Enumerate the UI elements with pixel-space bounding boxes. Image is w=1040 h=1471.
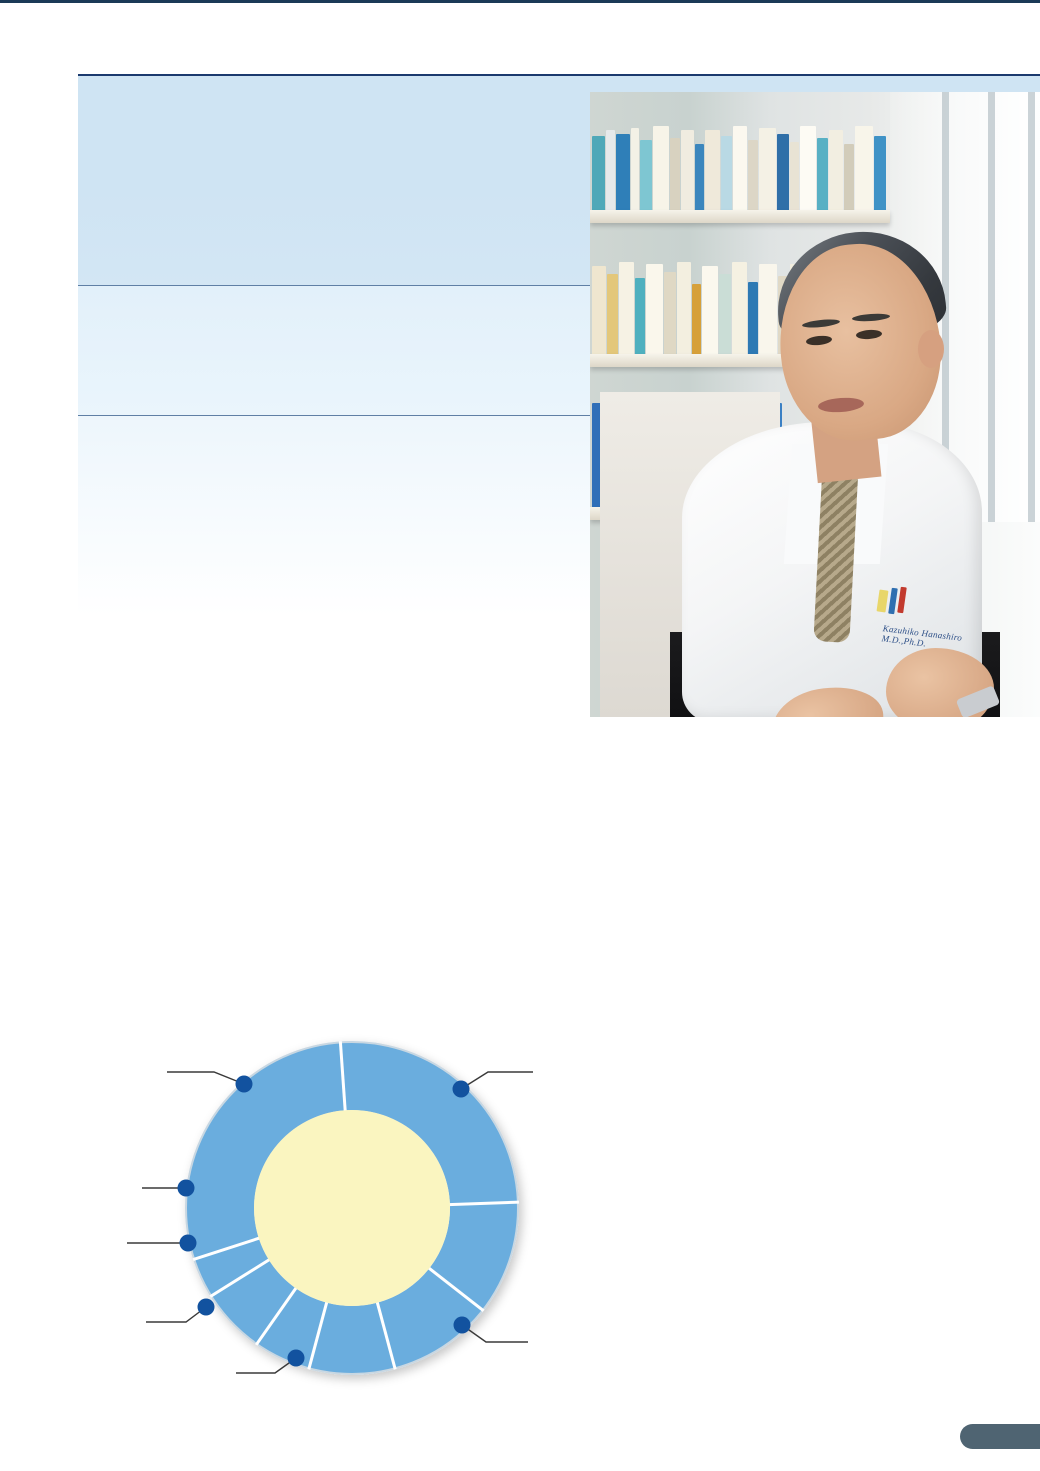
window-mullion-icon xyxy=(1028,92,1035,522)
shelf-book xyxy=(607,274,618,354)
shelf-book xyxy=(635,278,645,354)
shelf-book xyxy=(748,282,758,354)
callout-leader-line xyxy=(462,1325,528,1342)
callout-leader-line xyxy=(167,1072,244,1084)
shelf-book xyxy=(631,128,639,210)
shelf-book xyxy=(844,144,854,210)
shelf-book xyxy=(695,144,704,210)
shelf-book xyxy=(653,126,669,210)
shelf-book xyxy=(748,140,758,210)
shelf-book xyxy=(646,264,663,354)
shelf-book xyxy=(817,138,828,210)
page-top-rule xyxy=(0,0,1040,3)
treatment-options-donut-figure xyxy=(120,1020,560,1420)
donut-center-hub xyxy=(254,1110,450,1306)
photo-ear xyxy=(918,330,944,368)
shelf-book xyxy=(705,130,720,210)
shelf-book xyxy=(759,264,777,354)
callout-dot[interactable] xyxy=(198,1299,215,1316)
callout-dot[interactable] xyxy=(454,1317,471,1334)
shelf-book xyxy=(606,130,615,210)
shelf-book xyxy=(670,138,680,210)
page-number-tab xyxy=(960,1424,1040,1449)
shelf-book xyxy=(733,126,747,210)
callout-dot[interactable] xyxy=(180,1235,197,1252)
shelf-board xyxy=(590,210,890,223)
shelf-book xyxy=(719,274,731,354)
shelf-book xyxy=(702,266,718,354)
feature-rule-top xyxy=(78,74,1040,76)
shelf-book xyxy=(677,262,691,354)
callout-dot[interactable] xyxy=(236,1076,253,1093)
shelf-book xyxy=(800,126,816,210)
callout-leader-line xyxy=(461,1072,533,1089)
shelf-book xyxy=(732,262,747,354)
callout-dot[interactable] xyxy=(288,1350,305,1367)
shelf-book xyxy=(855,126,873,210)
shelf-book xyxy=(592,266,606,354)
shelf-book xyxy=(790,142,799,210)
interview-portrait-photo: Kazuhiko Hanashiro M.D.,Ph.D. xyxy=(590,92,1040,717)
shelf-book xyxy=(759,128,776,210)
callout-leader-line xyxy=(146,1307,206,1322)
shelf-book xyxy=(829,130,843,210)
shelf-book xyxy=(874,136,886,210)
shelf-book xyxy=(681,130,694,210)
shelf-book xyxy=(616,134,630,210)
window-mullion-icon xyxy=(988,92,995,522)
shelf-book xyxy=(721,136,732,210)
callout-dot[interactable] xyxy=(453,1081,470,1098)
donut-chart xyxy=(120,1020,560,1420)
shelf-book xyxy=(640,140,652,210)
shelf-row xyxy=(590,100,890,210)
shelf-book xyxy=(664,272,676,354)
shelf-book xyxy=(592,136,605,210)
shelf-book xyxy=(777,134,789,210)
callout-dot[interactable] xyxy=(178,1180,195,1197)
shelf-book xyxy=(692,284,701,354)
shelf-book xyxy=(619,262,634,354)
